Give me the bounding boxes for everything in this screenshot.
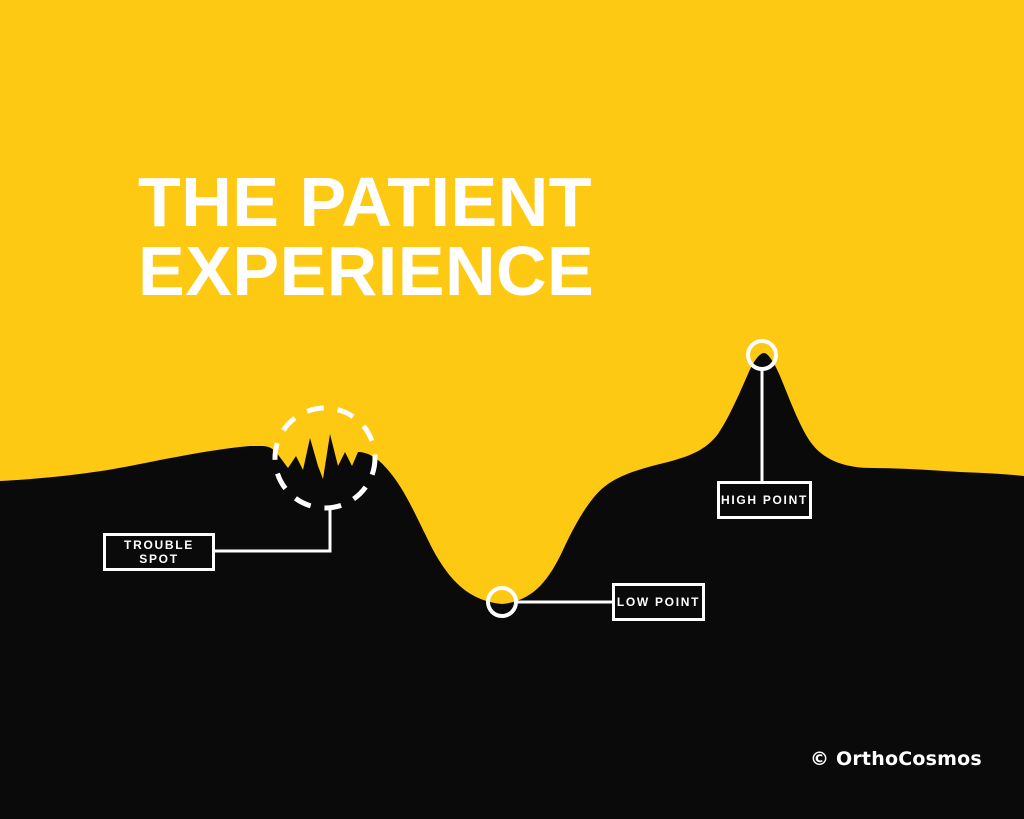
callout-high-point-label: HIGH POINT bbox=[721, 493, 808, 507]
callout-low-point: LOW POINT bbox=[612, 583, 705, 621]
copyright-credit: © OrthoCosmos bbox=[810, 748, 982, 770]
landscape-illustration bbox=[0, 0, 1024, 819]
callout-trouble-spot-label: TROUBLE SPOT bbox=[106, 538, 212, 566]
callout-trouble-spot: TROUBLE SPOT bbox=[103, 533, 215, 571]
poster-canvas: THE PATIENT EXPERIENCE TROUBLE SPOT LOW … bbox=[0, 0, 1024, 819]
callout-low-point-label: LOW POINT bbox=[617, 595, 700, 609]
callout-high-point: HIGH POINT bbox=[717, 481, 812, 519]
page-title: THE PATIENT EXPERIENCE bbox=[138, 168, 658, 305]
